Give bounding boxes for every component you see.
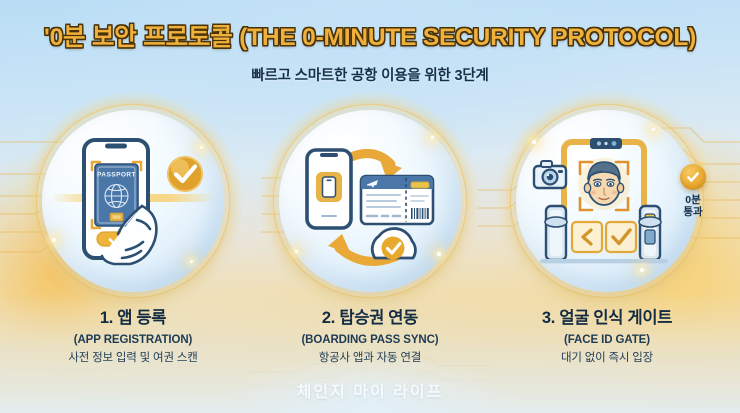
sparkle: [640, 268, 644, 272]
step-2-title-en: (BOARDING PASS SYNC): [301, 333, 438, 347]
phone-passport-scan-icon: PASSPORT: [42, 110, 224, 292]
face-id-gate-icon: [516, 110, 698, 292]
orb-sphere: PASSPORT: [42, 110, 224, 292]
sparkle: [431, 136, 434, 139]
step-2[interactable]: 2. 탑승권 연동 (BOARDING PASS SYNC) 항공사 앱과 자동…: [252, 110, 489, 366]
step-2-title-kr: 2. 탑승권 연동: [301, 308, 438, 329]
step-1-caption: 1. 앱 등록 (APP REGISTRATION) 사전 정보 입력 및 여권…: [68, 308, 197, 366]
sparkle: [190, 260, 193, 263]
step-2-description: 항공사 앱과 자동 연결: [301, 351, 438, 365]
infographic-canvas: '0분 보안 프로토콜 (THE 0-MINUTE SECURITY PROTO…: [0, 0, 740, 413]
step-1[interactable]: PASSPORT: [15, 110, 252, 366]
pass-badge-line1: 0분: [683, 194, 702, 206]
orb-sphere: [516, 110, 698, 292]
pass-badge-text: 0분 통과: [683, 194, 702, 219]
sparkle: [532, 140, 536, 144]
sparkle: [437, 252, 441, 256]
step-2-orb[interactable]: [279, 110, 461, 292]
step-2-caption: 2. 탑승권 연동 (BOARDING PASS SYNC) 항공사 앱과 자동…: [301, 308, 438, 366]
pass-badge-line2: 통과: [683, 206, 702, 218]
step-1-title-kr: 1. 앱 등록: [68, 308, 197, 329]
step-1-orb[interactable]: PASSPORT: [42, 110, 224, 292]
step-3-caption: 3. 얼굴 인식 게이트 (FACE ID GATE) 대기 없이 즉시 입장: [542, 308, 672, 366]
sparkle: [295, 250, 298, 253]
sparkle: [200, 146, 203, 149]
step-3[interactable]: 0분 통과 3. 얼굴 인식 게이트 (FACE ID GATE) 대기 없이 …: [489, 110, 726, 366]
step-3-title-kr: 3. 얼굴 인식 게이트: [542, 308, 672, 329]
step-3-orb[interactable]: 0분 통과: [516, 110, 698, 292]
check-glyph: [685, 169, 701, 185]
step-1-title-en: (APP REGISTRATION): [68, 333, 197, 347]
sparkle: [652, 128, 655, 131]
header: '0분 보안 프로토콜 (THE 0-MINUTE SECURITY PROTO…: [0, 18, 740, 85]
watermark: 체인지 마이 라이프: [0, 378, 740, 402]
step-1-description: 사전 정보 입력 및 여권 스캔: [68, 351, 197, 365]
pass-badge: 0분 통과: [680, 164, 706, 219]
page-title: '0분 보안 프로토콜 (THE 0-MINUTE SECURITY PROTO…: [0, 18, 740, 53]
svg-text:PASSPORT: PASSPORT: [97, 172, 136, 179]
sparkle: [52, 238, 56, 242]
step-3-description: 대기 없이 즉시 입장: [542, 351, 672, 365]
page-subtitle: 빠르고 스마트한 공항 이용을 위한 3단계: [0, 64, 740, 85]
check-coin-icon: [680, 164, 706, 190]
step-3-title-en: (FACE ID GATE): [542, 333, 672, 347]
steps-row: PASSPORT: [0, 110, 740, 366]
